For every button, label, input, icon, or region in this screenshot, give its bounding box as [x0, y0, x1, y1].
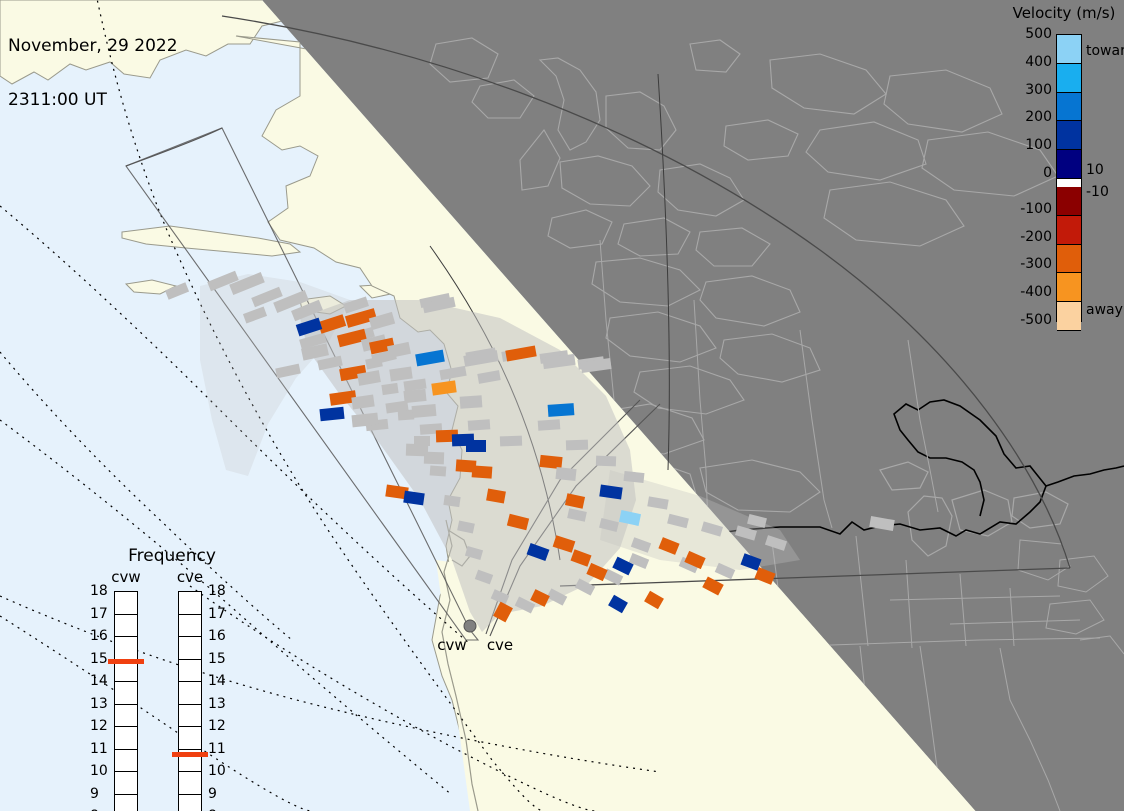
colorbar-band-3 [1057, 121, 1081, 150]
station-label-cve: cve [487, 636, 513, 654]
colorbar-tick-7: -200 [1012, 229, 1052, 245]
frequency-marker-cvw [108, 659, 144, 664]
frequency-cell [179, 682, 201, 705]
colorbar-band-10 [1057, 302, 1081, 331]
frequency-cell [179, 637, 201, 660]
time-text: 2311:00 UT [8, 91, 178, 109]
frequency-bar-cvw [114, 591, 138, 811]
colorbar-tick-2: 300 [1012, 82, 1052, 98]
frequency-tick-cvw-11: 11 [90, 741, 108, 757]
frequency-tick-cvw-15: 15 [90, 651, 108, 667]
frequency-tick-cvw-17: 17 [90, 606, 108, 622]
colorbar-band-0 [1057, 35, 1081, 64]
colorbar-tick-4: 100 [1012, 137, 1052, 153]
frequency-tick-cvw-10: 10 [90, 763, 108, 779]
frequency-cell [115, 615, 137, 638]
frequency-tick-cve-14: 14 [208, 673, 226, 689]
frequency-tick-cvw-12: 12 [90, 718, 108, 734]
colorbar-tick-0: 500 [1012, 26, 1052, 42]
colorbar-tick-3: 200 [1012, 109, 1052, 125]
colorbar-toward-label: toward [1086, 43, 1124, 59]
frequency-tick-cve-11: 11 [208, 741, 226, 757]
frequency-cell [179, 660, 201, 683]
colorbar-band-1 [1057, 64, 1081, 93]
frequency-cell [115, 637, 137, 660]
frequency-tick-cve-15: 15 [208, 651, 226, 667]
colorbar-band-4 [1057, 150, 1081, 179]
frequency-cell [179, 727, 201, 750]
frequency-bar-cve [178, 591, 202, 811]
frequency-cell [115, 727, 137, 750]
radar-map-figure: cvw cve November, 29 2022 2311:00 UT Vel… [0, 0, 1124, 811]
frequency-cell [115, 592, 137, 615]
frequency-cell [179, 615, 201, 638]
timestamp: November, 29 2022 2311:00 UT [8, 1, 178, 145]
frequency-cell [115, 705, 137, 728]
frequency-tick-cve-17: 17 [208, 606, 226, 622]
colorbar-band-9 [1057, 273, 1081, 302]
frequency-tick-cve-12: 12 [208, 718, 226, 734]
frequency-cell [179, 772, 201, 795]
frequency-tick-cve-18: 18 [208, 583, 226, 599]
colorbar-tick-5: 0 [1012, 165, 1052, 181]
velocity-colorbar: Velocity (m/s) 5004003002001000-100-200-… [1004, 2, 1124, 332]
frequency-tick-cvw-13: 13 [90, 696, 108, 712]
colorbar-away-label: away [1086, 302, 1123, 318]
colorbar-band-2 [1057, 93, 1081, 122]
frequency-col-name-cve: cve [167, 568, 213, 586]
frequency-tick-cvw-16: 16 [90, 628, 108, 644]
frequency-col-name-cvw: cvw [103, 568, 149, 586]
frequency-cell [115, 750, 137, 773]
colorbar-gradient [1056, 34, 1082, 322]
colorbar-tick-8: -300 [1012, 256, 1052, 272]
frequency-panel: Frequency cvw18171615141312111098cve1817… [92, 546, 252, 796]
frequency-tick-cve-13: 13 [208, 696, 226, 712]
frequency-tick-cve-16: 16 [208, 628, 226, 644]
colorbar-pos-threshold-label: 10 [1086, 162, 1104, 178]
station-label-cvw: cvw [437, 636, 466, 654]
frequency-title: Frequency [92, 546, 252, 566]
frequency-cell [115, 795, 137, 811]
colorbar-title: Velocity (m/s) [1004, 4, 1124, 22]
frequency-cell [179, 795, 201, 811]
date-text: November, 29 2022 [8, 37, 178, 55]
frequency-cell [179, 705, 201, 728]
colorbar-tick-10: -500 [1012, 312, 1052, 328]
frequency-cell [115, 682, 137, 705]
frequency-tick-cvw-18: 18 [90, 583, 108, 599]
frequency-tick-cve-10: 10 [208, 763, 226, 779]
colorbar-band-7 [1057, 216, 1081, 245]
frequency-cell [115, 772, 137, 795]
frequency-tick-cve-9: 9 [208, 786, 217, 802]
colorbar-band-5 [1057, 179, 1081, 187]
station-dot [464, 620, 476, 632]
colorbar-neg-threshold-label: -10 [1086, 184, 1109, 200]
frequency-marker-cve [172, 752, 208, 757]
colorbar-tick-6: -100 [1012, 201, 1052, 217]
frequency-cell [179, 592, 201, 615]
frequency-tick-cvw-14: 14 [90, 673, 108, 689]
colorbar-band-6 [1057, 187, 1081, 216]
colorbar-tick-1: 400 [1012, 54, 1052, 70]
frequency-tick-cvw-9: 9 [90, 786, 99, 802]
colorbar-band-8 [1057, 245, 1081, 274]
colorbar-tick-9: -400 [1012, 284, 1052, 300]
